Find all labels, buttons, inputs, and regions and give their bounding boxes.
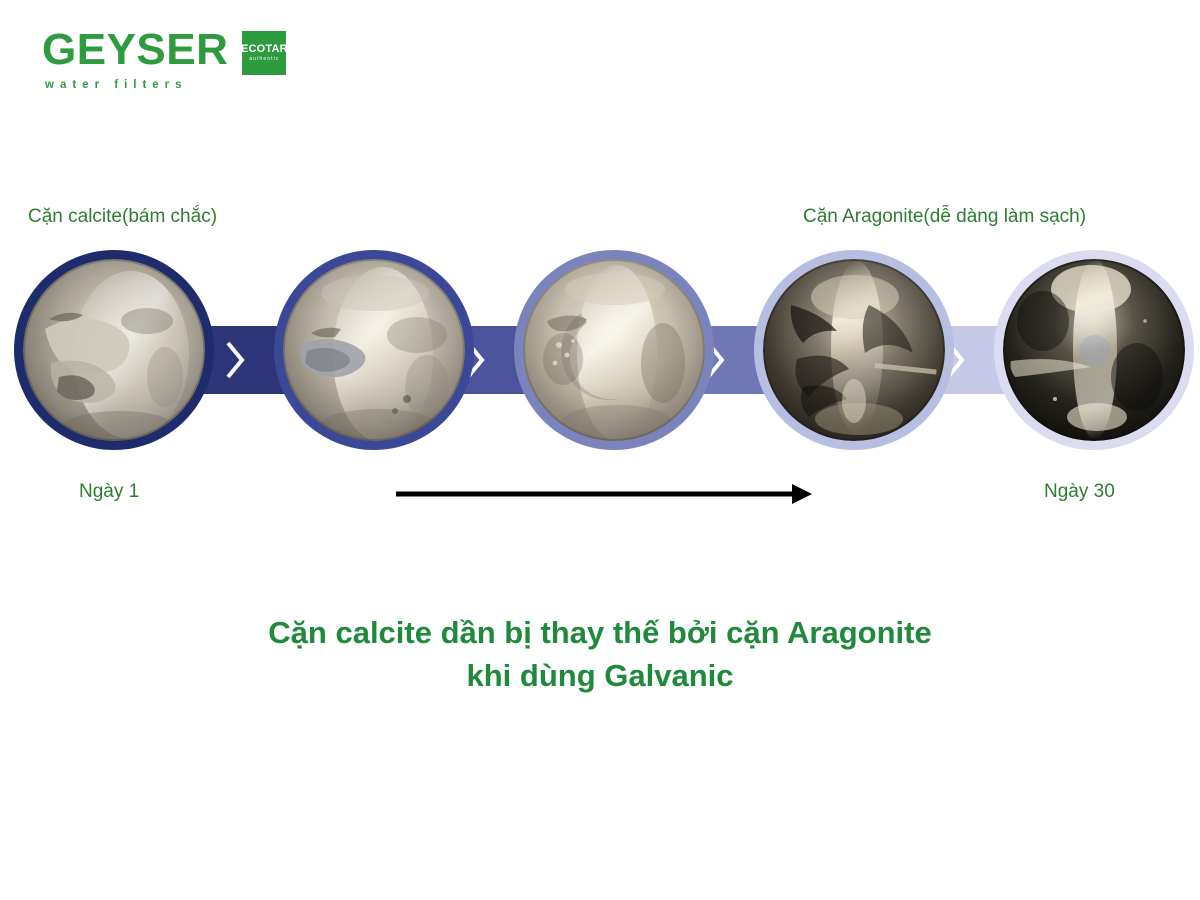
- timeline-stage-5: [994, 250, 1194, 450]
- pot-photo-2: [283, 259, 465, 441]
- timeline-stage-4: [754, 250, 954, 450]
- progress-arrow-icon: [394, 480, 814, 508]
- caption-line-1: Cặn calcite dần bị thay thế bởi cặn Arag…: [0, 612, 1200, 655]
- timeline-stage-3: [514, 250, 714, 450]
- pot-photo-4: [763, 259, 945, 441]
- ecotar-badge-title: ECOTAR: [241, 44, 288, 55]
- logo-tagline: water filters: [45, 79, 188, 91]
- pot-photo-5: [1003, 259, 1185, 441]
- caption-line-2: khi dùng Galvanic: [0, 655, 1200, 698]
- timeline-stage-2: [274, 250, 474, 450]
- annotation-aragonite-scale: Cặn Aragonite(dễ dàng làm sạch): [803, 206, 1086, 228]
- day-label-end: Ngày 30: [1044, 481, 1115, 503]
- timeline-stage-1: [14, 250, 214, 450]
- logo-wordmark: GEYSER: [42, 28, 228, 72]
- day-label-start: Ngày 1: [79, 481, 139, 503]
- annotation-calcite-scale: Cặn calcite(bám chắc): [28, 206, 217, 228]
- pot-photo-1: [23, 259, 205, 441]
- brand-logo: GEYSER water filters ECOTAR authentic: [42, 28, 286, 91]
- pot-photo-3: [523, 259, 705, 441]
- scale-progression-timeline: [0, 250, 1200, 470]
- chevron-right-icon-1: [222, 339, 248, 381]
- ecotar-badge: ECOTAR authentic: [242, 31, 286, 75]
- caption-block: Cặn calcite dần bị thay thế bởi cặn Arag…: [0, 612, 1200, 698]
- logo-text-block: GEYSER water filters: [42, 28, 228, 91]
- ecotar-badge-subtitle: authentic: [249, 57, 279, 62]
